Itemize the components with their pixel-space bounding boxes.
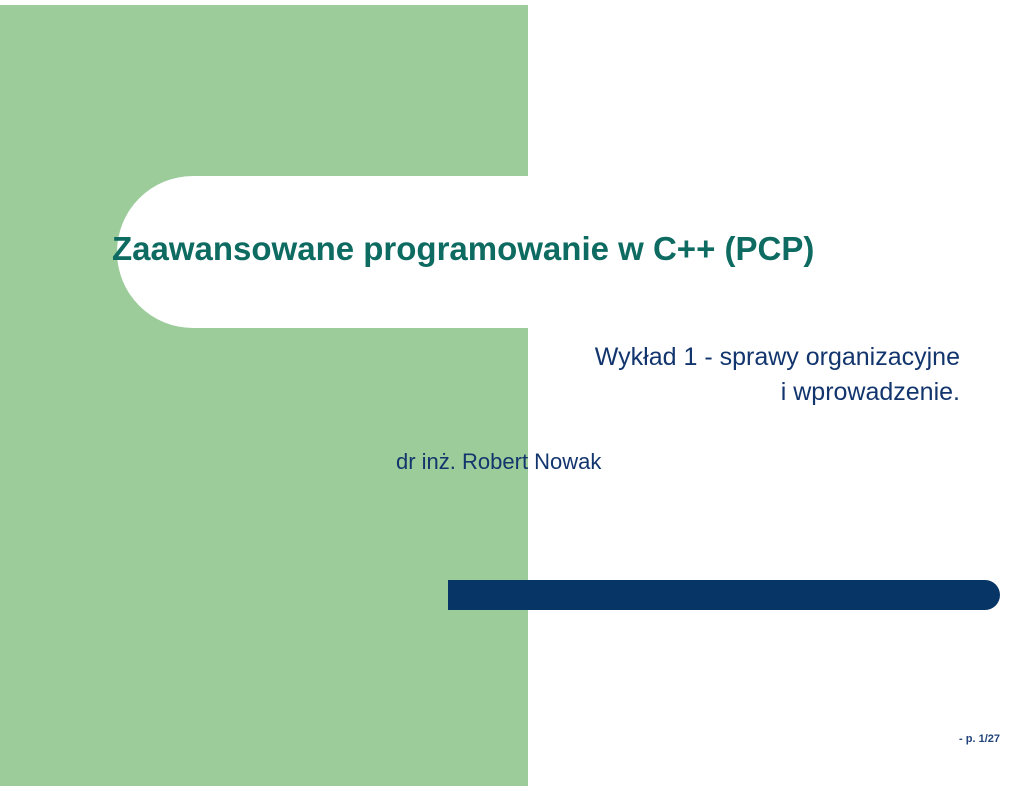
presentation-slide: Zaawansowane programowanie w C++ (PCP) W… bbox=[0, 0, 1024, 791]
page-number-footer: - p. 1/27 bbox=[900, 733, 1000, 745]
author-name: dr inż. Robert Nowak bbox=[396, 449, 601, 475]
accent-bar-shape bbox=[448, 580, 1000, 610]
subtitle-line-2: i wprowadzenie. bbox=[430, 375, 960, 410]
page-title: Zaawansowane programowanie w C++ (PCP) bbox=[112, 230, 952, 268]
subtitle-line-1: Wykład 1 - sprawy organizacyjne bbox=[430, 340, 960, 375]
subtitle-block: Wykład 1 - sprawy organizacyjne i wprowa… bbox=[430, 340, 960, 410]
